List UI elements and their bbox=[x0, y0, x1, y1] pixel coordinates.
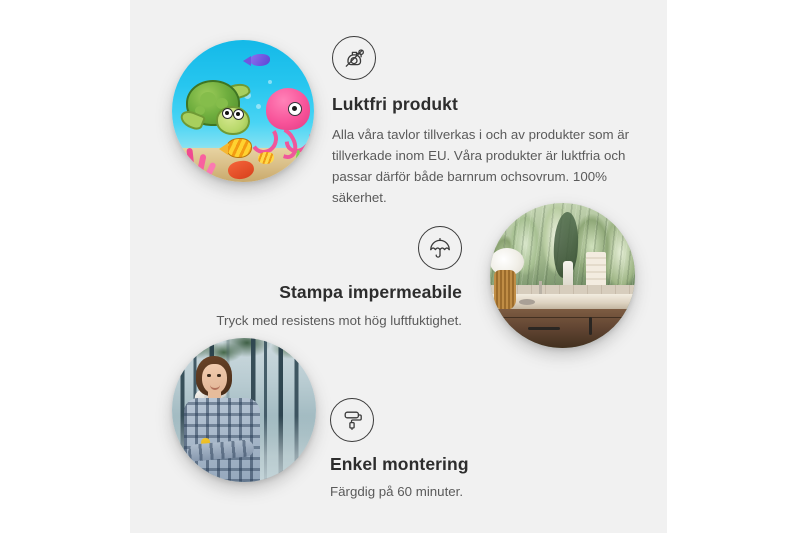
feature-title: Enkel montering bbox=[330, 454, 610, 476]
wooden-vanity bbox=[490, 309, 635, 348]
product-image-bathroom-leaf-wallpaper bbox=[490, 203, 635, 348]
turtle-eye bbox=[233, 109, 244, 120]
feature-title: Luktfri produkt bbox=[332, 94, 632, 116]
vanity-drawer-handle bbox=[528, 327, 560, 330]
feature-block-easy-mounting: Enkel montering Färgdig på 60 minuter. bbox=[330, 398, 610, 502]
feature-block-odour-free: Luktfri produkt Alla våra tavlor tillver… bbox=[332, 36, 632, 208]
blue-fish bbox=[250, 54, 270, 66]
bubble-icon bbox=[256, 104, 261, 109]
umbrella-icon bbox=[418, 226, 462, 270]
yellow-striped-fish bbox=[226, 138, 252, 158]
octopus-eye bbox=[288, 102, 302, 116]
no-smell-perfume-icon bbox=[332, 36, 376, 80]
turtle-eye bbox=[222, 108, 233, 119]
feature-body: Tryck med resistens mot hög luftfuktighe… bbox=[160, 310, 462, 331]
feature-body: Färgdig på 60 minuter. bbox=[330, 481, 610, 502]
forest-scene bbox=[172, 338, 316, 482]
underwater-scene bbox=[172, 40, 314, 182]
bathroom-scene bbox=[490, 203, 635, 348]
soap-dish bbox=[519, 299, 535, 305]
product-image-underwater-kids-mural bbox=[172, 40, 314, 182]
small-yellow-fish bbox=[258, 152, 274, 164]
woman-eye bbox=[207, 374, 211, 377]
paint-roller-icon bbox=[330, 398, 374, 442]
bubble-icon bbox=[268, 80, 272, 84]
product-image-woman-paint-roller-forest bbox=[172, 338, 316, 482]
soap-dispenser bbox=[563, 261, 573, 287]
vanity-drawer-seam bbox=[490, 317, 635, 319]
feature-body: Alla våra tavlor tillverkas i och av pro… bbox=[332, 124, 632, 208]
gold-vase bbox=[494, 270, 516, 310]
vanity-door-handle bbox=[589, 317, 592, 335]
feature-title: Stampa impermeabile bbox=[160, 282, 462, 304]
woman-eye bbox=[217, 374, 221, 377]
feature-block-waterproof-print: Stampa impermeabile Tryck med resistens … bbox=[160, 226, 462, 331]
faucet bbox=[539, 281, 542, 295]
pink-coral bbox=[176, 142, 218, 180]
